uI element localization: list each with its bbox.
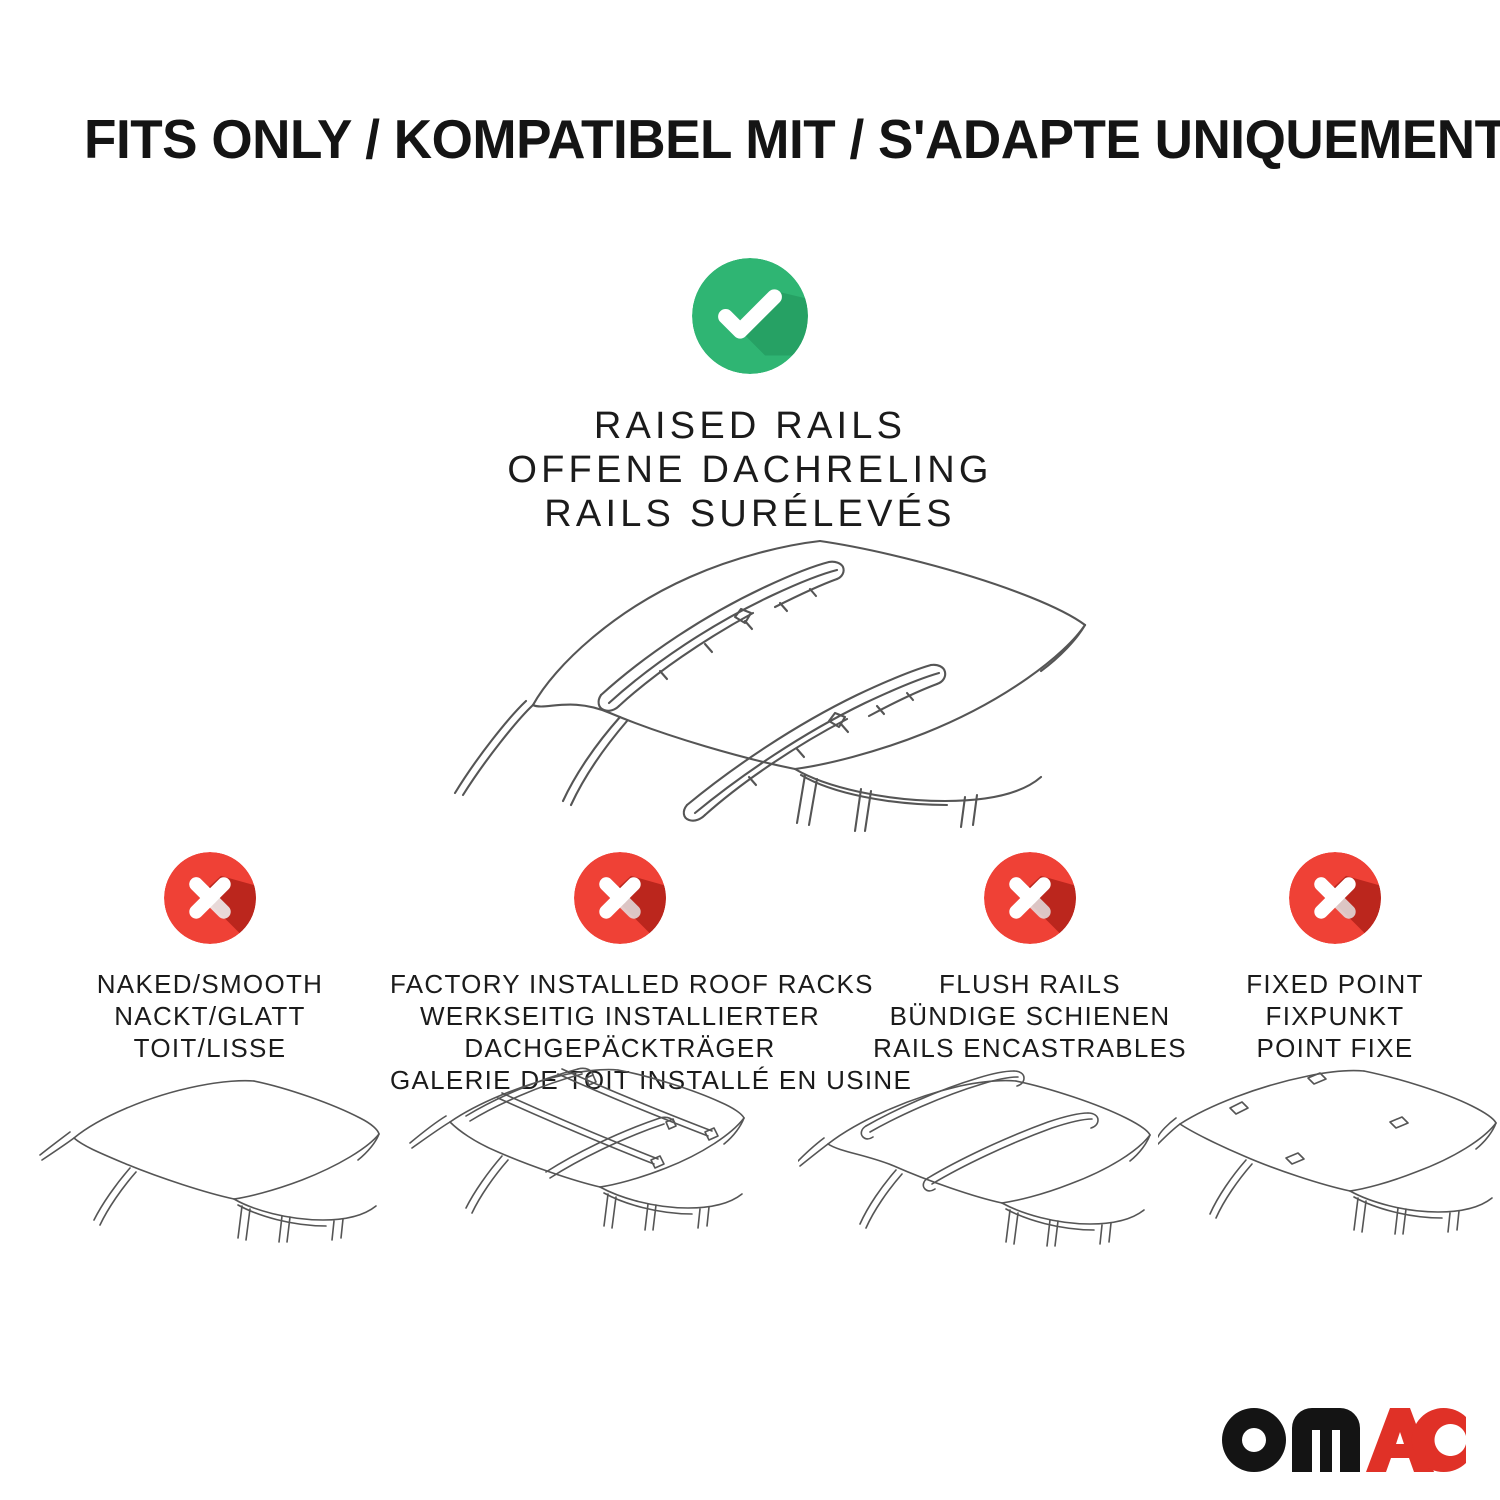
x-circle-icon — [1289, 852, 1381, 944]
car-roof-fixed-point-illustration — [1158, 1060, 1500, 1280]
caption-line: FLUSH RAILS — [860, 968, 1200, 1000]
check-circle-icon — [692, 258, 808, 374]
car-roof-factory-racks-illustration — [398, 1060, 763, 1280]
caption-line: WERKSEITIG INSTALLIERTER — [390, 1000, 850, 1032]
compatibility-option-fixed-point: FIXED POINT FIXPUNKT POINT FIXE — [1200, 852, 1470, 1064]
caption-line: NAKED/SMOOTH — [60, 968, 360, 1000]
caption-line: OFFENE DACHRELING — [250, 448, 1250, 492]
compatibility-option-flush-rails: FLUSH RAILS BÜNDIGE SCHIENEN RAILS ENCAS… — [860, 852, 1200, 1064]
incompatible-caption: NAKED/SMOOTH NACKT/GLATT TOIT/LISSE — [60, 968, 360, 1064]
logo-letter-o — [1222, 1408, 1286, 1472]
compatibility-option-naked-smooth: NAKED/SMOOTH NACKT/GLATT TOIT/LISSE — [60, 852, 360, 1064]
car-roof-naked-smooth-illustration — [38, 1060, 383, 1280]
caption-line: FIXPUNKT — [1200, 1000, 1470, 1032]
x-circle-icon — [984, 852, 1076, 944]
incompatible-caption: FLUSH RAILS BÜNDIGE SCHIENEN RAILS ENCAS… — [860, 968, 1200, 1064]
compatibility-option-raised-rails: RAISED RAILS OFFENE DACHRELING RAILS SUR… — [250, 258, 1250, 536]
incompatible-caption: FIXED POINT FIXPUNKT POINT FIXE — [1200, 968, 1470, 1064]
car-roof-raised-rails-illustration — [405, 505, 1105, 835]
x-circle-icon — [574, 852, 666, 944]
caption-line: NACKT/GLATT — [60, 1000, 360, 1032]
caption-line: RAISED RAILS — [250, 404, 1250, 448]
page-title: FITS ONLY / KOMPATIBEL MIT / S'ADAPTE UN… — [84, 108, 1377, 170]
caption-line: BÜNDIGE SCHIENEN — [860, 1000, 1200, 1032]
omac-logo — [1218, 1404, 1468, 1476]
caption-line: FIXED POINT — [1200, 968, 1470, 1000]
logo-letter-m — [1292, 1408, 1360, 1472]
caption-line: FACTORY INSTALLED ROOF RACKS — [390, 968, 850, 1000]
car-roof-flush-rails-illustration — [798, 1060, 1163, 1280]
x-circle-icon — [164, 852, 256, 944]
